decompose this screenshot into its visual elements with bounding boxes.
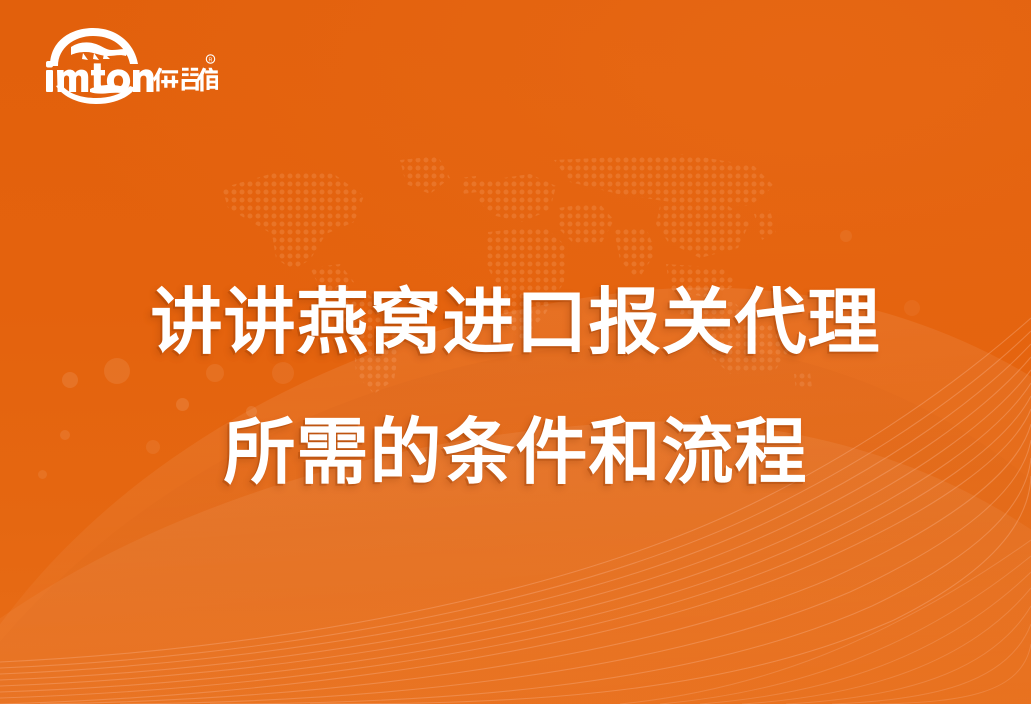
- page-title: 讲讲燕窝进口报关代理 所需的条件和流程: [0, 258, 1031, 518]
- banner-poster: R 讲讲燕窝进口报关代理 所需的条件和流程: [0, 0, 1031, 704]
- page-title-line-2: 所需的条件和流程: [0, 388, 1031, 518]
- logo-chinese-name: [153, 68, 218, 92]
- globe-arc-icon: [50, 28, 138, 66]
- logo-wordmark: [46, 61, 154, 93]
- logo[interactable]: R: [38, 26, 218, 106]
- trademark-letter: R: [209, 58, 213, 64]
- page-title-line-1: 讲讲燕窝进口报关代理: [0, 258, 1031, 388]
